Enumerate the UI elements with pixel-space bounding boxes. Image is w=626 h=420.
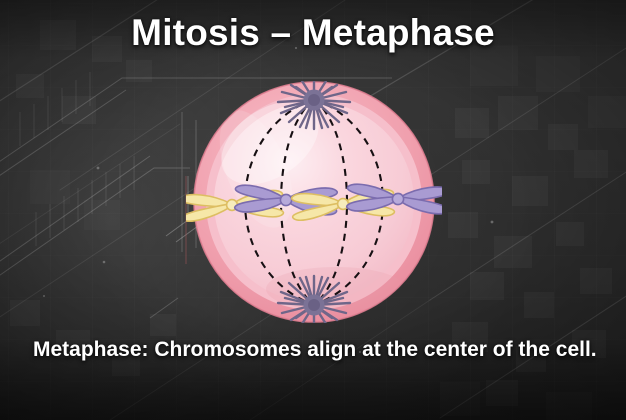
page-title: Mitosis – Metaphase [0, 14, 626, 53]
caption-text: Metaphase: Chromosomes align at the cent… [33, 337, 598, 363]
poster-canvas: Mitosis – Metaphase [0, 0, 626, 420]
mitosis-cell-diagram [186, 81, 442, 323]
cell-diagram-svg [186, 81, 442, 323]
